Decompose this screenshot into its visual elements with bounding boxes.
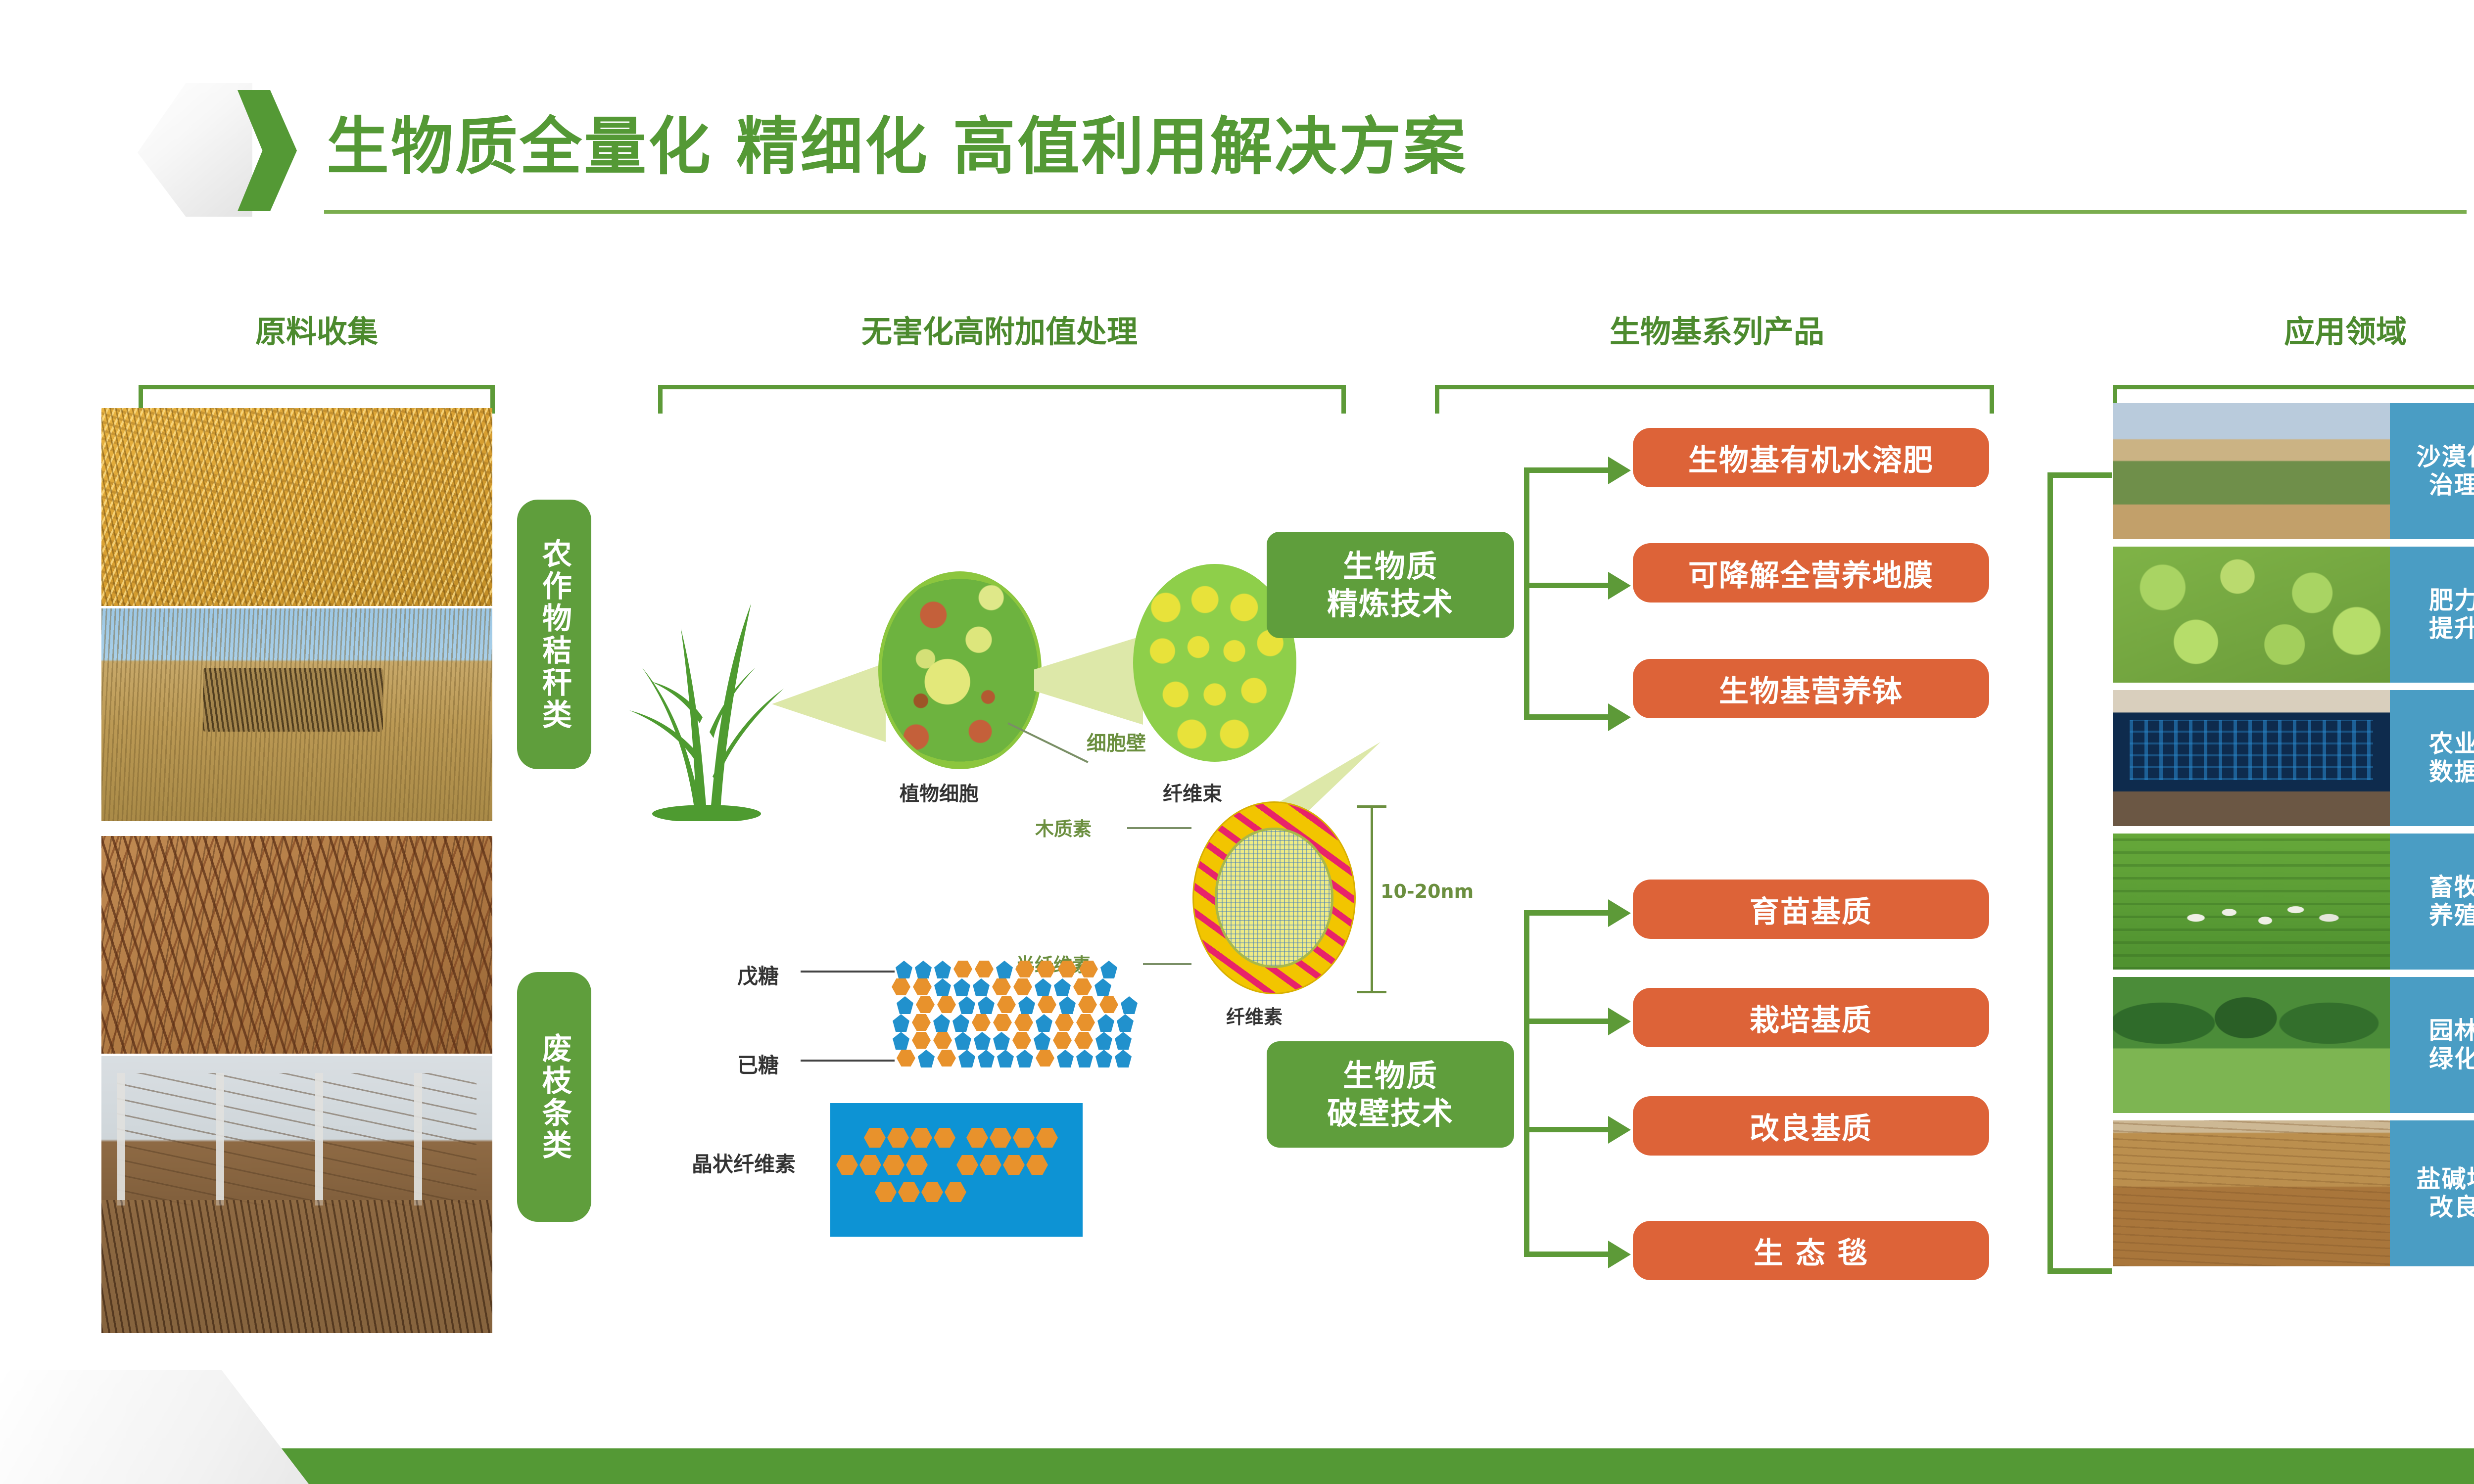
connector-wall-breaking-trunk [1524, 910, 1529, 1256]
arrow-icon [1608, 1116, 1631, 1144]
section-header-raw-material: 原料收集 [183, 307, 450, 351]
arrow-icon [1608, 572, 1631, 600]
technology-label-line1: 生物质 [1327, 1057, 1454, 1095]
application-tag: 畜牧 养殖 [2390, 834, 2474, 970]
label-plant-cell: 植物细胞 [900, 778, 979, 806]
dimension-tick [1357, 991, 1386, 993]
bracket-application-group [2047, 472, 2112, 1274]
application-row[interactable]: 盐碱地 改良 [2113, 1120, 2474, 1266]
application-photo [2113, 403, 2390, 539]
arrow-icon [1608, 1008, 1631, 1035]
connector-wall-breaking-branch [1524, 1127, 1611, 1132]
application-label-line2: 治理 [2416, 471, 2474, 499]
technology-box-wall-breaking[interactable]: 生物质 破壁技术 [1267, 1041, 1514, 1148]
application-tag: 盐碱地 改良 [2390, 1120, 2474, 1266]
application-tag: 沙漠化 治理 [2390, 403, 2474, 539]
application-label-line1: 畜牧 [2429, 874, 2474, 901]
label-hexose: 已糖 [737, 1049, 779, 1079]
label-lignin: 木质素 [1035, 814, 1092, 841]
cell-wall-leader-line [1007, 722, 1089, 763]
label-pentose: 戊糖 [737, 960, 779, 990]
technology-label-line2: 破壁技术 [1327, 1095, 1454, 1132]
dimension-tick [1357, 805, 1386, 808]
section-header-applications: 应用领域 [2157, 307, 2474, 351]
grass-plant-icon [627, 544, 791, 821]
raw-material-photo [101, 608, 492, 821]
section-header-products: 生物基系列产品 [1455, 307, 1979, 351]
application-row[interactable]: 农业 数据 [2113, 690, 2474, 826]
connector-refining-branch [1524, 467, 1611, 473]
application-photo [2113, 1120, 2390, 1266]
raw-material-category-waste-branch: 废枝条类 [517, 972, 591, 1222]
arrow-icon [1608, 457, 1631, 484]
bracket-processing [658, 385, 1346, 414]
application-label-line2: 绿化 [2429, 1045, 2474, 1073]
product-box[interactable]: 可降解全营养地膜 [1633, 543, 1989, 603]
application-row[interactable]: 畜牧 养殖 [2113, 834, 2474, 970]
application-photo [2113, 547, 2390, 683]
arrow-icon [1608, 1241, 1631, 1268]
product-box[interactable]: 生物基营养钵 [1633, 659, 1989, 718]
connector-wall-breaking-branch [1524, 910, 1611, 916]
plant-cell-diagram [878, 571, 1042, 769]
connector-refining-trunk [1524, 467, 1529, 720]
application-label-line2: 养殖 [2429, 902, 2474, 929]
raw-material-photo [101, 836, 492, 1054]
product-box[interactable]: 生物基有机水溶肥 [1633, 428, 1989, 487]
application-label-line1: 盐碱地 [2416, 1165, 2474, 1193]
crystalline-cellulose-diagram [830, 1103, 1083, 1237]
pentose-leader-line [801, 971, 895, 973]
application-tag: 园林 绿化 [2390, 977, 2474, 1113]
label-fiber-bundle: 纤维束 [1163, 778, 1222, 806]
cellulose-fiber-cross-section [1192, 801, 1356, 994]
application-photo [2113, 834, 2390, 970]
raw-material-category-crop-straw: 农作物秸秆类 [517, 500, 591, 769]
footer-bar [0, 1448, 2474, 1484]
product-box[interactable]: 生 态 毯 [1633, 1221, 1989, 1280]
application-photo [2113, 690, 2390, 826]
technology-box-refining[interactable]: 生物质 精炼技术 [1267, 532, 1514, 638]
product-box[interactable]: 改良基质 [1633, 1096, 1989, 1156]
product-box[interactable]: 栽培基质 [1633, 988, 1989, 1047]
application-label-line2: 改良 [2416, 1194, 2474, 1221]
application-label-line1: 沙漠化 [2416, 443, 2474, 471]
arrow-icon [1608, 899, 1631, 927]
sugar-chain-diagram [896, 961, 1108, 1074]
application-row[interactable]: 园林 绿化 [2113, 977, 2474, 1113]
page-title: 生物质全量化 精细化 高值利用解决方案 [327, 96, 1468, 186]
magnify-beam [1034, 636, 1143, 725]
label-cell-wall: 细胞壁 [1087, 727, 1146, 756]
application-label-line1: 肥力 [2429, 587, 2474, 614]
application-tag: 肥力 提升 [2390, 547, 2474, 683]
connector-wall-breaking-branch [1524, 1019, 1611, 1024]
connector-refining-branch [1524, 714, 1611, 720]
infographic-canvas: 生物质全量化 精细化 高值利用解决方案 原料收集 无害化高附加值处理 生物基系列… [0, 0, 2474, 1484]
bracket-products [1435, 385, 1994, 414]
dimension-bar [1371, 805, 1373, 993]
connector-refining-branch [1524, 583, 1611, 588]
hexose-leader-line [801, 1060, 895, 1062]
application-label-line2: 数据 [2429, 758, 2474, 786]
application-label-line1: 园林 [2429, 1017, 2474, 1045]
application-tag: 农业 数据 [2390, 690, 2474, 826]
lignin-leader-line [1127, 827, 1191, 829]
application-row[interactable]: 沙漠化 治理 [2113, 403, 2474, 539]
label-crystalline-cellulose: 晶状纤维素 [692, 1148, 796, 1178]
technology-label-line2: 精炼技术 [1327, 585, 1454, 623]
label-fiber-dimension: 10-20nm [1380, 881, 1474, 902]
application-label-line2: 提升 [2429, 615, 2474, 643]
product-box[interactable]: 育苗基质 [1633, 880, 1989, 939]
hexagon-decoration [138, 83, 252, 217]
title-divider [324, 210, 2467, 214]
label-cellulose: 纤维素 [1226, 1002, 1283, 1029]
application-photo [2113, 977, 2390, 1113]
technology-label-line1: 生物质 [1327, 548, 1454, 585]
section-header-processing: 无害化高附加值处理 [708, 307, 1291, 351]
application-label-line1: 农业 [2429, 730, 2474, 758]
application-row[interactable]: 肥力 提升 [2113, 547, 2474, 683]
raw-material-photo [101, 408, 492, 606]
connector-wall-breaking-branch [1524, 1252, 1611, 1257]
raw-material-photo [101, 1056, 492, 1333]
cellulose-core [1215, 828, 1333, 968]
hemicellulose-leader-line [1143, 963, 1191, 965]
arrow-icon [1608, 703, 1631, 731]
